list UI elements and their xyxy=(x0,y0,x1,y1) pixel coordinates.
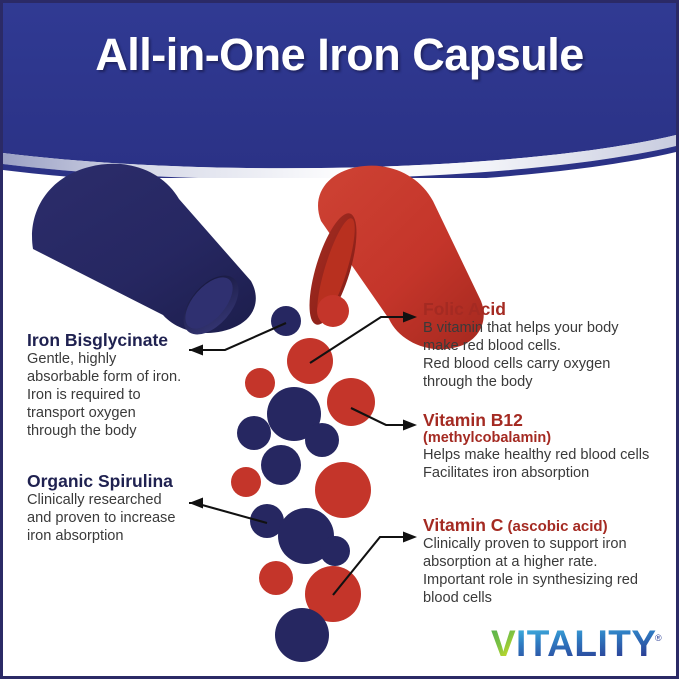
logo-registered-trademark: ® xyxy=(655,633,662,643)
callout-vitamin-c: Vitamin C (ascobic acid) Clinically prov… xyxy=(423,515,638,608)
callout-body-line: make red blood cells. xyxy=(423,338,619,356)
callout-body-line: iron absorption xyxy=(27,528,175,546)
callout-heading-main: Vitamin C xyxy=(423,515,503,535)
callout-heading: Folic Acid xyxy=(423,299,619,319)
callout-subheading: (methylcobalamin) xyxy=(423,430,649,446)
dot-blue xyxy=(237,416,271,450)
callout-body-line: transport oxygen xyxy=(27,405,181,423)
callout-body-line: absorption at a higher rate. xyxy=(423,554,638,572)
callout-heading: Vitamin C (ascobic acid) xyxy=(423,515,638,535)
callout-heading-qualifier: (ascobic acid) xyxy=(503,518,607,535)
arrow-head-iron xyxy=(189,345,203,356)
dot-red xyxy=(315,462,371,518)
dot-red xyxy=(259,561,293,595)
callout-organic-spirulina: Organic Spirulina Clinically researched … xyxy=(27,471,175,546)
header-banner: All-in-One Iron Capsule xyxy=(3,3,676,178)
callout-body-line: blood cells xyxy=(423,590,638,608)
dot-blue xyxy=(271,306,301,336)
callout-body-line: Helps make healthy red blood cells xyxy=(423,447,649,465)
callout-body-line: Red blood cells carry oxygen xyxy=(423,356,619,374)
dot-blue xyxy=(275,608,329,662)
callout-heading: Iron Bisglycinate xyxy=(27,330,181,350)
callout-folic-acid: Folic Acid B vitamin that helps your bod… xyxy=(423,299,619,392)
dot-red xyxy=(287,338,333,384)
product-infographic: All-in-One Iron Capsule xyxy=(0,0,679,679)
vitality-logo-mark: V ITALITY ® xyxy=(491,625,666,667)
callout-body-line: Clinically proven to support iron xyxy=(423,536,638,554)
logo-v-letter: V xyxy=(491,625,516,664)
callout-body-line: Clinically researched xyxy=(27,492,175,510)
dot-blue xyxy=(261,445,301,485)
arrow-head-b12 xyxy=(403,420,417,431)
dot-red xyxy=(231,467,261,497)
callout-body: Helps make healthy red blood cells Facil… xyxy=(423,447,649,483)
dot-blue xyxy=(320,536,350,566)
callout-body-line: through the body xyxy=(423,374,619,392)
callout-heading: Vitamin B12 xyxy=(423,410,649,430)
dot-red xyxy=(327,378,375,426)
dot-blue xyxy=(305,423,339,457)
callout-body: Gentle, highly absorbable form of iron. … xyxy=(27,351,181,441)
vitality-logo: V ITALITY ® xyxy=(491,625,666,665)
callout-body-line: Iron is required to xyxy=(27,387,181,405)
callout-vitamin-b12: Vitamin B12 (methylcobalamin) Helps make… xyxy=(423,410,649,483)
callout-iron-bisglycinate: Iron Bisglycinate Gentle, highly absorba… xyxy=(27,330,181,441)
callout-body-line: absorbable form of iron. xyxy=(27,369,181,387)
arrow-head-vitc xyxy=(403,532,417,543)
callout-body: Clinically researched and proven to incr… xyxy=(27,492,175,546)
capsule-half-blue xyxy=(32,164,256,345)
page-title: All-in-One Iron Capsule xyxy=(3,29,676,81)
callout-body: Clinically proven to support iron absorp… xyxy=(423,536,638,608)
particle-dots xyxy=(231,295,375,662)
callout-heading: Organic Spirulina xyxy=(27,471,175,491)
callout-body-line: B vitamin that helps your body xyxy=(423,320,619,338)
dot-red xyxy=(317,295,349,327)
callout-body-line: and proven to increase xyxy=(27,510,175,528)
callout-body: B vitamin that helps your body make red … xyxy=(423,320,619,392)
callout-body-line: Gentle, highly xyxy=(27,351,181,369)
callout-body-line: Important role in synthesizing red xyxy=(423,572,638,590)
callout-body-line: through the body xyxy=(27,423,181,441)
callout-body-line: Facilitates iron absorption xyxy=(423,465,649,483)
dot-red xyxy=(245,368,275,398)
arrow-head-spirulina xyxy=(189,498,203,509)
logo-wordmark: ITALITY xyxy=(516,625,657,664)
